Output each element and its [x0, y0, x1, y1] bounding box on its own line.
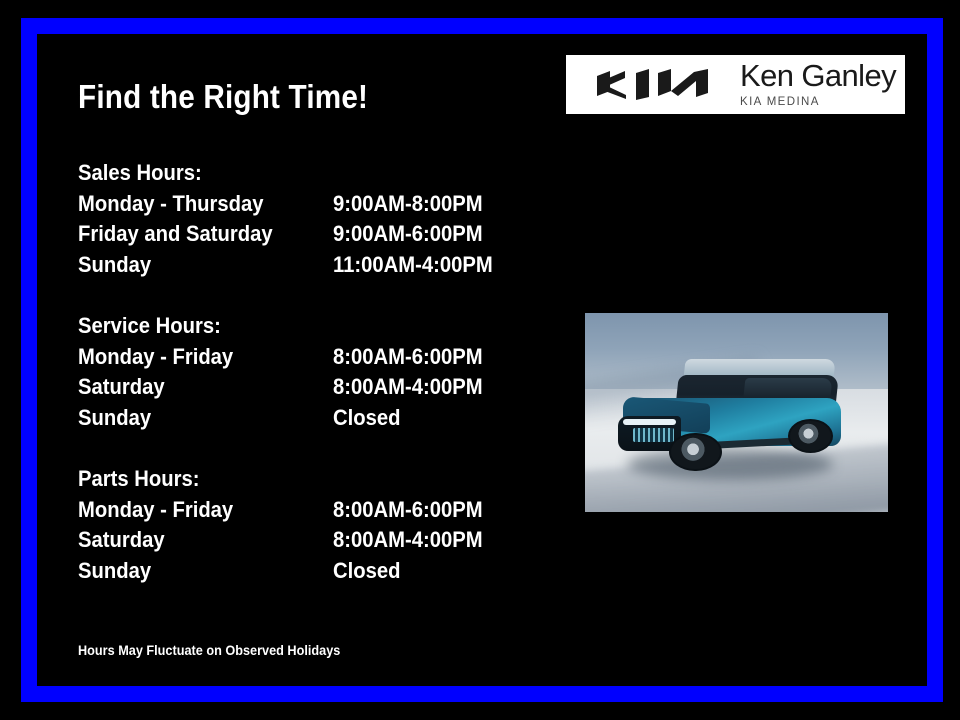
hours-row-day: Saturday	[78, 372, 313, 403]
hours-row-day: Monday - Thursday	[78, 189, 313, 220]
kia-logo-icon	[590, 68, 712, 101]
vehicle-illustration	[618, 359, 860, 474]
hours-row: Sunday 11:00AM-4:00PM	[78, 250, 538, 281]
hours-row-day: Friday and Saturday	[78, 219, 313, 250]
dealer-subtitle: KIA MEDINA	[740, 95, 896, 109]
hours-row-time: 11:00AM-4:00PM	[333, 250, 493, 281]
slide-root: Find the Right Time! Sales Hours: Monday…	[0, 0, 960, 720]
hours-block-heading: Service Hours:	[78, 311, 501, 342]
hours-row-time: 8:00AM-4:00PM	[333, 372, 483, 403]
hours-row-day: Sunday	[78, 403, 313, 434]
hours-list: Sales Hours: Monday - Thursday 9:00AM-8:…	[78, 158, 538, 586]
hours-row-day: Saturday	[78, 525, 313, 556]
vehicle-front-wheel	[669, 433, 721, 472]
disclaimer-text: Hours May Fluctuate on Observed Holidays	[78, 642, 340, 660]
hours-row-time: 8:00AM-6:00PM	[333, 495, 483, 526]
hours-row-time: Closed	[333, 556, 400, 587]
vehicle-rear-wheel	[788, 419, 833, 453]
hours-row: Monday - Friday 8:00AM-6:00PM	[78, 495, 538, 526]
hours-row-time: 9:00AM-6:00PM	[333, 219, 483, 250]
hours-row: Monday - Thursday 9:00AM-8:00PM	[78, 189, 538, 220]
hours-row: Monday - Friday 8:00AM-6:00PM	[78, 342, 538, 373]
hours-row: Friday and Saturday 9:00AM-6:00PM	[78, 219, 538, 250]
hours-row: Sunday Closed	[78, 403, 538, 434]
vehicle-grille	[633, 428, 674, 442]
hours-row-day: Sunday	[78, 556, 313, 587]
dealer-name-block: Ken Ganley KIA MEDINA	[740, 60, 896, 109]
vehicle-photo	[585, 313, 888, 512]
page-title: Find the Right Time!	[78, 78, 368, 116]
hours-row-day: Monday - Friday	[78, 495, 313, 526]
dealer-logo-panel: Ken Ganley KIA MEDINA	[566, 55, 905, 114]
hours-block-heading: Parts Hours:	[78, 464, 501, 495]
hours-block-service: Service Hours: Monday - Friday 8:00AM-6:…	[78, 311, 538, 433]
hours-row: Sunday Closed	[78, 556, 538, 587]
hours-block-sales: Sales Hours: Monday - Thursday 9:00AM-8:…	[78, 158, 538, 280]
hours-row-time: Closed	[333, 403, 400, 434]
hours-row-time: 8:00AM-6:00PM	[333, 342, 483, 373]
hours-row: Saturday 8:00AM-4:00PM	[78, 525, 538, 556]
hours-row-time: 8:00AM-4:00PM	[333, 525, 483, 556]
hours-row-time: 9:00AM-8:00PM	[333, 189, 483, 220]
hours-row-day: Monday - Friday	[78, 342, 313, 373]
hours-block-heading: Sales Hours:	[78, 158, 501, 189]
dealer-name: Ken Ganley	[740, 60, 896, 91]
hours-block-parts: Parts Hours: Monday - Friday 8:00AM-6:00…	[78, 464, 538, 586]
vehicle-headlight	[623, 419, 676, 425]
hours-row-day: Sunday	[78, 250, 313, 281]
hours-row: Saturday 8:00AM-4:00PM	[78, 372, 538, 403]
